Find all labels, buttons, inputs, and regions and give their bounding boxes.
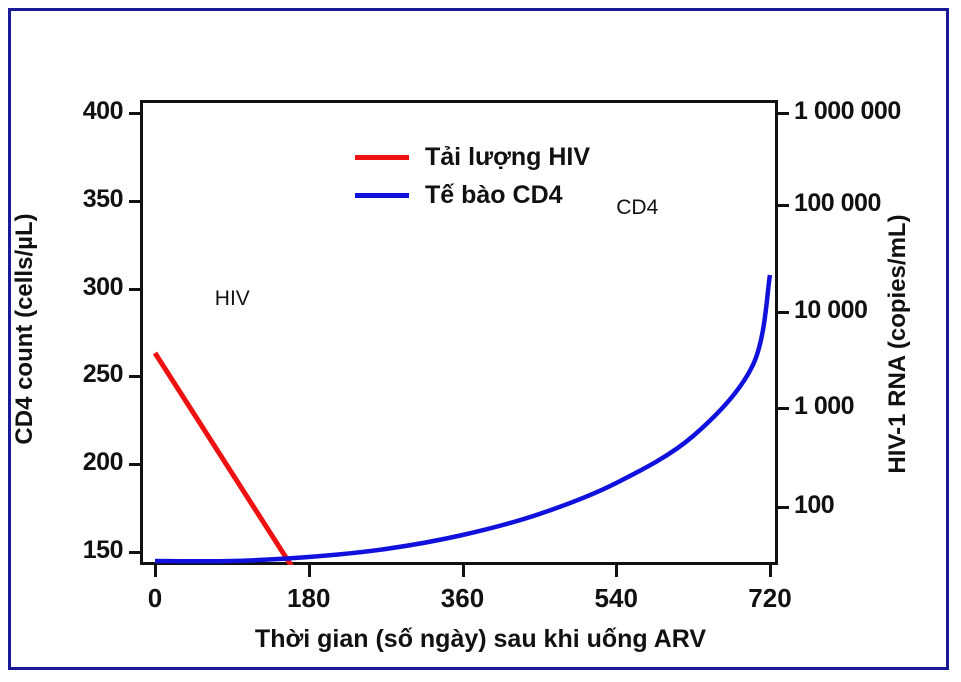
y-axis-right-tick xyxy=(778,112,789,115)
x-axis-tick xyxy=(308,565,311,577)
series-line-cd4 xyxy=(155,275,770,561)
y-axis-left-tick xyxy=(129,200,140,203)
y-axis-left-ticklabel: 400 xyxy=(25,97,123,126)
x-axis-ticklabel: 720 xyxy=(710,583,830,614)
legend-item: Tải lượng HIV xyxy=(355,138,590,176)
x-axis-ticklabel: 180 xyxy=(249,583,369,614)
y-axis-right-tick xyxy=(778,204,789,207)
legend-item: Tế bào CD4 xyxy=(355,176,590,214)
x-axis-tick xyxy=(154,565,157,577)
series-annotation-cd4: CD4 xyxy=(616,196,658,220)
y-axis-right-title: HIV-1 RNA (copies/mL) xyxy=(884,164,912,524)
y-axis-right-ticklabel: 1 000 000 xyxy=(794,97,901,126)
y-axis-left-tick xyxy=(129,551,140,554)
legend-swatch-icon xyxy=(355,155,409,160)
chart-page: 150200250300350400 1 000 000100 00010 00… xyxy=(0,0,961,682)
legend-label: Tải lượng HIV xyxy=(425,143,590,172)
x-axis-tick xyxy=(462,565,465,577)
y-axis-left-ticklabel: 150 xyxy=(25,536,123,565)
y-axis-left-ticklabel: 350 xyxy=(25,185,123,214)
y-axis-right-tick xyxy=(778,407,789,410)
y-axis-left-title: CD4 count (cells/µL) xyxy=(11,159,39,499)
y-axis-left-tick xyxy=(129,288,140,291)
y-axis-right-tick xyxy=(778,506,789,509)
x-axis-ticklabel: 0 xyxy=(95,583,215,614)
y-axis-right-ticklabel: 100 000 xyxy=(794,189,881,218)
y-axis-left-tick xyxy=(129,463,140,466)
y-axis-left-ticklabel: 200 xyxy=(25,448,123,477)
chart-legend: Tải lượng HIVTế bào CD4 xyxy=(355,138,590,214)
y-axis-right-ticklabel: 100 xyxy=(794,491,834,520)
y-axis-right-ticklabel: 1 000 xyxy=(794,392,854,421)
y-axis-left-ticklabel: 300 xyxy=(25,273,123,302)
x-axis-ticklabel: 540 xyxy=(556,583,676,614)
y-axis-right-ticklabel: 10 000 xyxy=(794,296,867,325)
y-axis-left-ticklabel: 250 xyxy=(25,360,123,389)
x-axis-title: Thời gian (số ngày) sau khi uống ARV xyxy=(0,625,961,654)
y-axis-left-tick xyxy=(129,112,140,115)
y-axis-right-tick xyxy=(778,311,789,314)
x-axis-tick xyxy=(615,565,618,577)
x-axis-ticklabel: 360 xyxy=(403,583,523,614)
series-annotation-hiv: HIV xyxy=(215,287,250,311)
legend-label: Tế bào CD4 xyxy=(425,181,563,210)
legend-swatch-icon xyxy=(355,193,409,198)
x-axis-tick xyxy=(769,565,772,577)
y-axis-left-tick xyxy=(129,375,140,378)
